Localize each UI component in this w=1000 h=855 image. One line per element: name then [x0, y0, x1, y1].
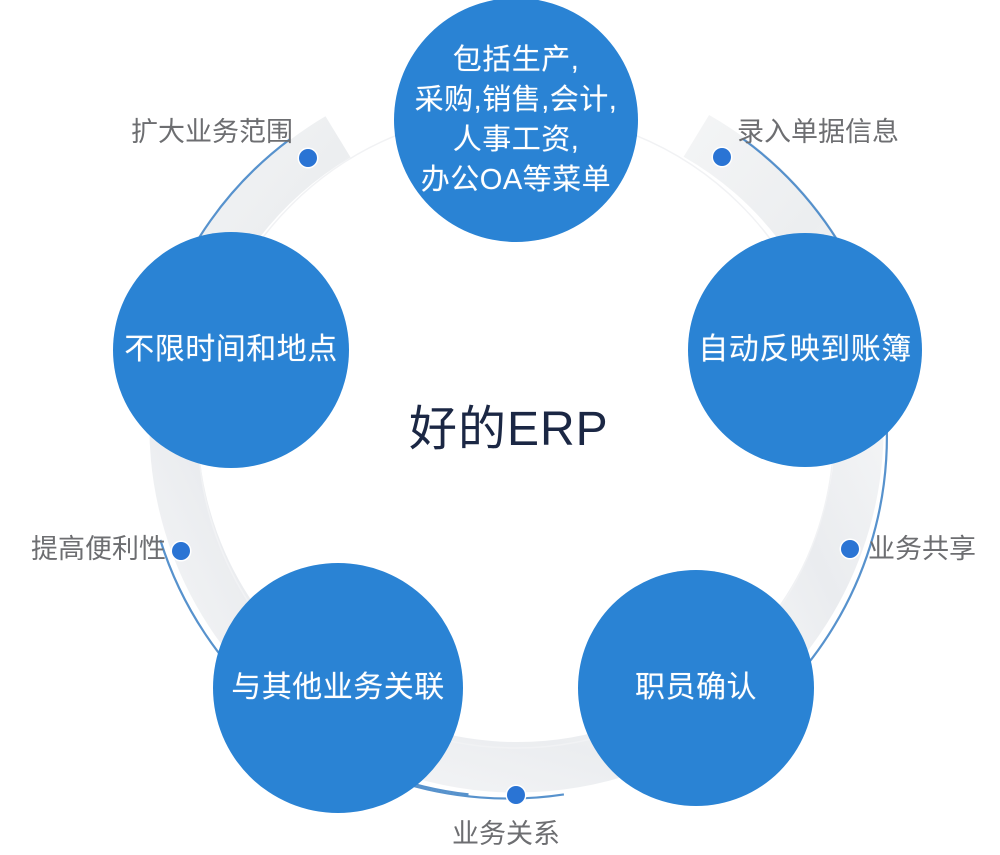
- node-circle-top[interactable]: 包括生产, 采购,销售,会计, 人事工资, 办公OA等菜单: [394, 0, 638, 242]
- outer-label-top-right: 录入单据信息: [737, 116, 899, 148]
- node-label-right: 自动反映到账簿: [692, 331, 918, 369]
- node-label-left: 不限时间和地点: [118, 331, 344, 369]
- diagram-canvas: 包括生产, 采购,销售,会计, 人事工资, 办公OA等菜单 自动反映到账簿 职员…: [0, 0, 1000, 855]
- node-label-top: 包括生产, 采购,销售,会计, 人事工资, 办公OA等菜单: [409, 40, 624, 200]
- outer-label-top-left: 扩大业务范围: [28, 116, 293, 148]
- node-label-bottom-right: 职员确认: [629, 669, 763, 707]
- node-label-bottom-left: 与其他业务关联: [225, 669, 451, 707]
- outer-label-left: 提高便利性: [0, 533, 166, 565]
- outer-label-right: 业务共享: [868, 533, 976, 565]
- page-title: 好的ERP: [409, 406, 609, 454]
- node-circle-bottom-right[interactable]: 职员确认: [578, 570, 814, 806]
- node-circle-left[interactable]: 不限时间和地点: [113, 232, 349, 468]
- outer-label-bottom: 业务关系: [452, 818, 560, 850]
- node-circle-bottom-left[interactable]: 与其他业务关联: [213, 563, 463, 813]
- node-circle-right[interactable]: 自动反映到账簿: [688, 233, 922, 467]
